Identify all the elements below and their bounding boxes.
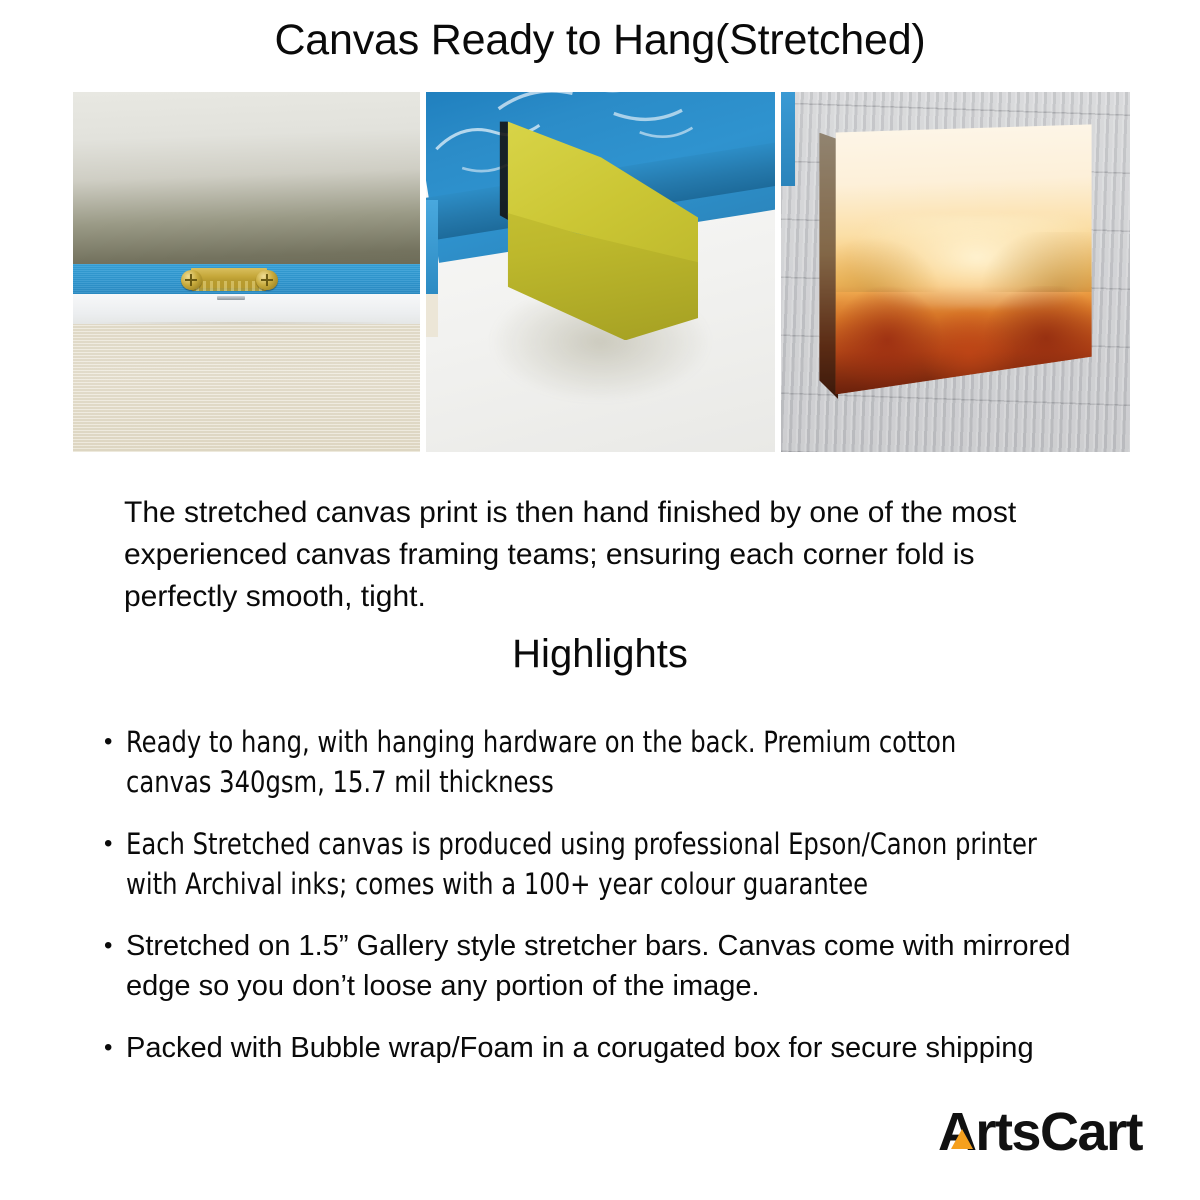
hanger-screw-right: [256, 270, 277, 290]
page-title: Canvas Ready to Hang(Stretched): [0, 14, 1200, 66]
product-photo-canvas-back-hardware[interactable]: [73, 92, 420, 452]
highlights-list: • Ready to hang, with hanging hardware o…: [104, 722, 1114, 1090]
intro-paragraph: The stretched canvas print is then hand …: [124, 492, 1080, 618]
left-edge-cream-sliver: [426, 294, 438, 337]
product-image-gallery: [73, 92, 1130, 452]
list-item-text: Ready to hang, with hanging hardware on …: [126, 722, 1045, 802]
highlights-heading: Highlights: [0, 629, 1200, 679]
list-item-text: Stretched on 1.5” Gallery style stretche…: [126, 926, 1114, 1006]
corner-fold-assembly: [496, 117, 698, 340]
brand-logo[interactable]: ArtsCart: [938, 1102, 1142, 1162]
canvas-gallery-wrap-side: [819, 133, 838, 399]
adjacent-photo-sliver: [781, 92, 795, 186]
bullet-marker-icon: •: [104, 1028, 126, 1068]
raw-canvas-surface: [73, 324, 420, 452]
product-photo-corner-fold[interactable]: [426, 92, 775, 452]
bullet-marker-icon: •: [104, 926, 126, 966]
list-item: • Each Stretched canvas is produced usin…: [104, 824, 1114, 904]
hanger-teeth: [192, 281, 266, 291]
bullet-marker-icon: •: [104, 824, 126, 864]
list-item: • Packed with Bubble wrap/Foam in a coru…: [104, 1028, 1114, 1068]
sawtooth-hanger-icon: [181, 267, 278, 293]
distant-hills: [836, 232, 1092, 291]
photo-background-wall: [73, 92, 420, 265]
list-item-text: Packed with Bubble wrap/Foam in a coruga…: [126, 1028, 1114, 1068]
product-photo-hung-canvas[interactable]: [781, 92, 1130, 452]
canvas-sunset-landscape-print: [819, 124, 1091, 394]
bullet-marker-icon: •: [104, 722, 126, 762]
list-item: • Stretched on 1.5” Gallery style stretc…: [104, 926, 1114, 1006]
hanger-clip: [217, 296, 245, 300]
list-item-text: Each Stretched canvas is produced using …: [126, 824, 1045, 904]
logo-triangle-icon: [951, 1129, 973, 1149]
left-edge-blue-sliver: [426, 200, 438, 294]
list-item: • Ready to hang, with hanging hardware o…: [104, 722, 1114, 802]
hanger-screw-left: [181, 270, 202, 290]
